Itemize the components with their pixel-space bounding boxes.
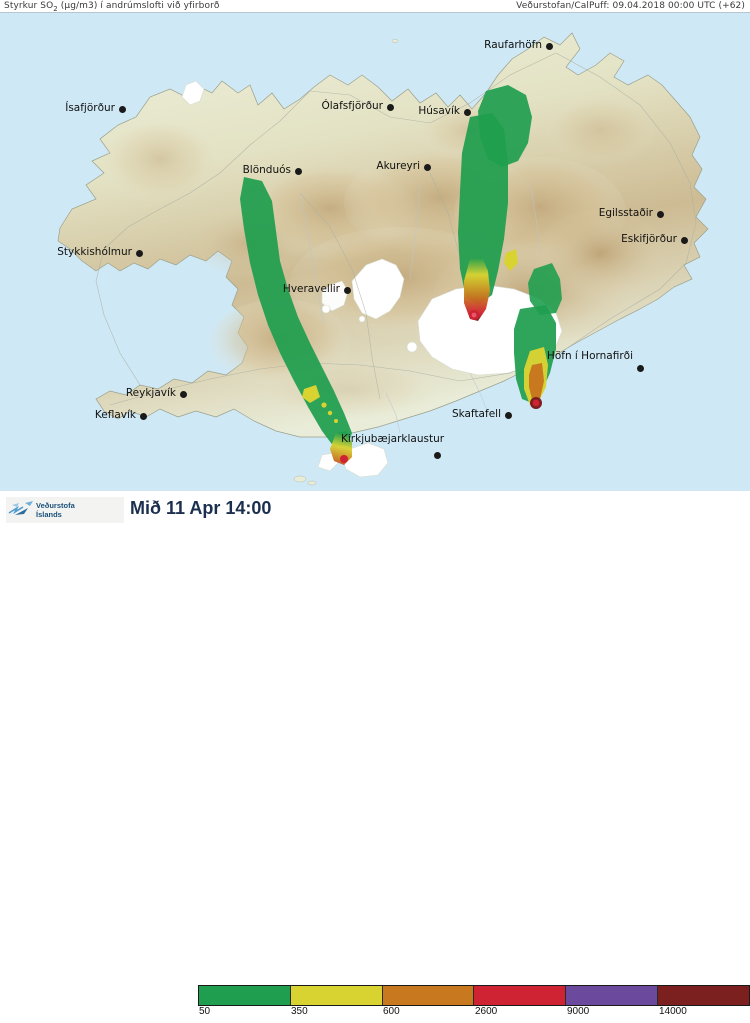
legend-swatch-9000 bbox=[566, 986, 658, 1005]
city-label: Kirkjubæjarklaustur bbox=[341, 433, 444, 445]
city-label: Akureyri bbox=[376, 160, 420, 172]
city-dot bbox=[180, 391, 187, 398]
valid-time-stamp: Mið 11 Apr 14:00 bbox=[130, 498, 271, 519]
logo-text: Veðurstofa Íslands bbox=[36, 501, 75, 519]
legend: 50 350 600 2600 9000 14000 bbox=[198, 983, 750, 1023]
header-bar: Styrkur SO2 (µg/m3) í andrúmslofti við y… bbox=[0, 0, 750, 13]
city-dot bbox=[434, 452, 441, 459]
logo-line-2: Íslands bbox=[36, 510, 62, 519]
weather-arrow-icon bbox=[6, 499, 36, 521]
city-dot bbox=[344, 287, 351, 294]
legend-swatch-50 bbox=[199, 986, 291, 1005]
city-label: Keflavík bbox=[95, 409, 136, 421]
city-label: Reykjavík bbox=[126, 387, 176, 399]
legend-color-bar bbox=[198, 985, 750, 1006]
footer-bar: Veðurstofa Íslands Mið 11 Apr 14:00 50 3… bbox=[0, 491, 750, 532]
legend-tick-1: 350 bbox=[291, 1006, 308, 1017]
city-label: Skaftafell bbox=[452, 408, 501, 420]
legend-swatch-14000 bbox=[658, 986, 749, 1005]
legend-tick-3: 2600 bbox=[475, 1006, 497, 1017]
city-label: Höfn í Hornafirði bbox=[547, 350, 633, 362]
city-dot bbox=[140, 413, 147, 420]
map-canvas[interactable]: Ísafjörður Ólafsfjörður Húsavík Raufarhö… bbox=[0, 13, 750, 491]
legend-swatch-350 bbox=[291, 986, 383, 1005]
logo-line-1: Veðurstofa bbox=[36, 501, 75, 510]
page-title: Styrkur SO2 (µg/m3) í andrúmslofti við y… bbox=[4, 1, 220, 13]
city-label: Ísafjörður bbox=[65, 102, 115, 114]
legend-tick-5: 14000 bbox=[659, 1006, 687, 1017]
model-source-timestamp: Veðurstofan/CalPuff: 09.04.2018 00:00 UT… bbox=[516, 1, 745, 11]
legend-swatch-600 bbox=[383, 986, 475, 1005]
city-dot bbox=[657, 211, 664, 218]
city-label: Egilsstaðir bbox=[599, 207, 653, 219]
legend-tick-0: 50 bbox=[199, 1006, 210, 1017]
city-label: Stykkishólmur bbox=[57, 246, 132, 258]
city-label: Blönduós bbox=[243, 164, 291, 176]
legend-swatch-2600 bbox=[474, 986, 566, 1005]
city-label: Ólafsfjörður bbox=[321, 100, 383, 112]
city-label: Raufarhöfn bbox=[484, 39, 542, 51]
legend-tick-4: 9000 bbox=[567, 1006, 589, 1017]
legend-tick-2: 600 bbox=[383, 1006, 400, 1017]
city-dot bbox=[136, 250, 143, 257]
city-dot bbox=[295, 168, 302, 175]
city-dot bbox=[505, 412, 512, 419]
city-dot bbox=[424, 164, 431, 171]
city-label: Hveravellir bbox=[283, 283, 340, 295]
city-dot bbox=[637, 365, 644, 372]
city-dot bbox=[464, 109, 471, 116]
legend-tick-labels: 50 350 600 2600 9000 14000 bbox=[198, 1006, 750, 1021]
city-label: Eskifjörður bbox=[621, 233, 677, 245]
city-dot bbox=[681, 237, 688, 244]
vedurstofan-logo[interactable]: Veðurstofa Íslands bbox=[6, 497, 124, 523]
so2-dispersion-map-screenshot: Styrkur SO2 (µg/m3) í andrúmslofti við y… bbox=[0, 0, 750, 532]
city-label: Húsavík bbox=[418, 105, 460, 117]
city-dot bbox=[119, 106, 126, 113]
city-dot bbox=[546, 43, 553, 50]
city-dot bbox=[387, 104, 394, 111]
